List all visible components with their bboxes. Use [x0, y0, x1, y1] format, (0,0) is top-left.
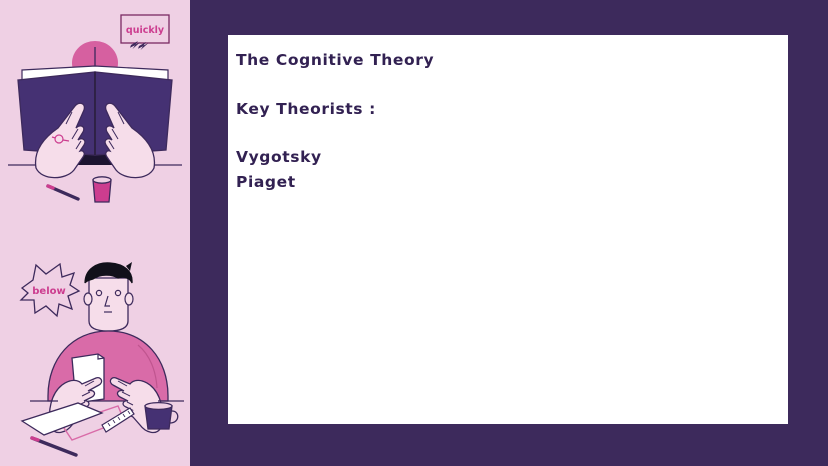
- page-title: The Cognitive Theory: [236, 53, 772, 69]
- illustration-person-holding-paper: below: [0, 233, 190, 466]
- illustration-sidebar: quickly: [0, 0, 190, 466]
- theorist-item-vygotsky: Vygotsky: [236, 150, 772, 166]
- person-head-icon: [84, 262, 133, 331]
- slide-canvas: quickly: [0, 0, 828, 466]
- spacer: [236, 117, 772, 150]
- section-subhead: Key Theorists :: [236, 102, 772, 118]
- spacer: [236, 69, 772, 102]
- cup-icon: [93, 177, 111, 202]
- callout-below-label: below: [32, 286, 65, 297]
- illustration-person-reading-book: quickly: [0, 0, 190, 233]
- slide-text-block: The Cognitive Theory Key Theorists : Vyg…: [236, 53, 772, 190]
- callout-quickly-label: quickly: [126, 25, 165, 36]
- book-cover-icon: [18, 72, 172, 155]
- content-panel: The Cognitive Theory Key Theorists : Vyg…: [228, 35, 788, 424]
- theorist-item-piaget: Piaget: [236, 175, 772, 191]
